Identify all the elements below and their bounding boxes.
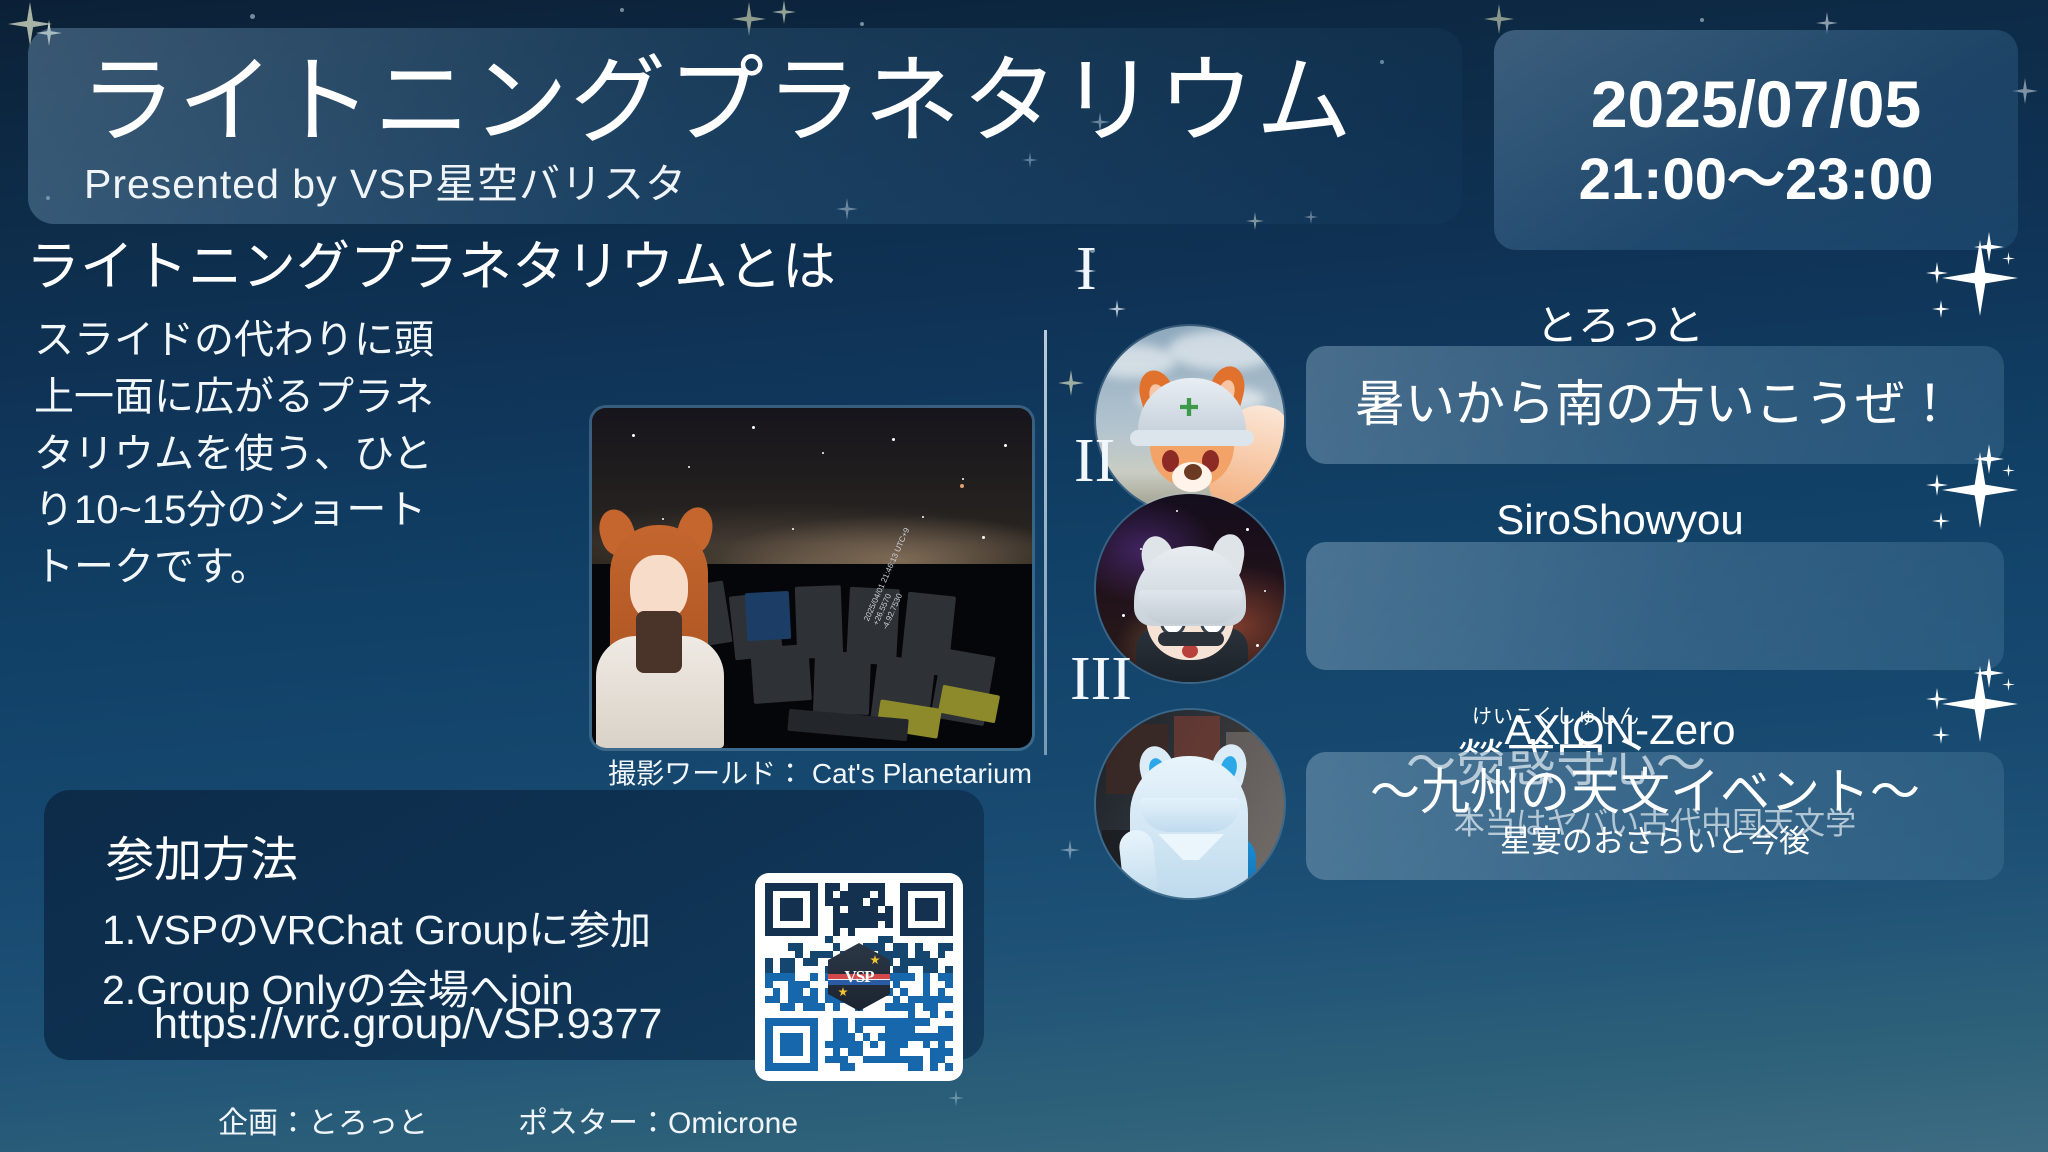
qr-module (923, 988, 931, 996)
qr-module (803, 1026, 811, 1034)
join-step-1: 1.VSPのVRChat Groupに参加 (102, 896, 651, 956)
qr-module (923, 1056, 931, 1064)
qr-module (945, 1041, 953, 1049)
qr-module (870, 921, 878, 929)
qr-module (833, 921, 841, 929)
qr-module (900, 958, 908, 966)
qr-module (848, 1056, 856, 1064)
qr-module (780, 1056, 788, 1064)
qr-module (930, 1011, 938, 1019)
qr-code-icon[interactable]: VSP (755, 873, 963, 1081)
qr-module (833, 898, 841, 906)
header-panel: ライトニングプラネタリウム Presented by VSP星空バリスタ (28, 28, 1462, 224)
qr-module (945, 1033, 953, 1041)
qr-module (930, 921, 938, 929)
qr-module (863, 1041, 871, 1049)
qr-module (795, 891, 803, 899)
presented-by-label: Presented by VSP星空バリスタ (84, 164, 687, 205)
qr-module (765, 898, 773, 906)
event-time: 21:00〜23:00 (1579, 151, 1934, 209)
qr-module (878, 891, 886, 899)
qr-module (818, 1026, 826, 1034)
qr-module (945, 1026, 953, 1034)
qr-module (780, 883, 788, 891)
qr-module (945, 913, 953, 921)
qr-module (803, 1011, 811, 1019)
qr-module (780, 906, 788, 914)
qr-module (885, 1033, 893, 1041)
qr-module (795, 973, 803, 981)
qr-module (795, 958, 803, 966)
join-heading: 参加方法 (106, 820, 298, 890)
qr-module (765, 913, 773, 921)
qr-module (938, 958, 946, 966)
qr-module (855, 1048, 863, 1056)
qr-module (825, 1056, 833, 1064)
qr-module (803, 1041, 811, 1049)
qr-module (773, 981, 781, 989)
qr-module (848, 1033, 856, 1041)
qr-module (848, 1063, 856, 1071)
qr-module (938, 1033, 946, 1041)
qr-module (923, 921, 931, 929)
qr-module (780, 913, 788, 921)
qr-module (810, 906, 818, 914)
qr-module (788, 1041, 796, 1049)
qr-module (945, 891, 953, 899)
entry-number-1: I (1076, 238, 1097, 300)
photo-avatar-figure (592, 503, 736, 748)
qr-module (803, 981, 811, 989)
qr-module (773, 883, 781, 891)
qr-module (795, 913, 803, 921)
qr-module (878, 883, 886, 891)
qr-module (945, 928, 953, 936)
qr-module (773, 943, 781, 951)
qr-module (788, 943, 796, 951)
qr-module (818, 973, 826, 981)
qr-module (780, 973, 788, 981)
qr-module (915, 973, 923, 981)
qr-module (908, 1056, 916, 1064)
page-title: ライトニングプラネタリウム (80, 54, 1354, 150)
qr-module (803, 1003, 811, 1011)
qr-module (795, 1033, 803, 1041)
qr-module (848, 1026, 856, 1034)
qr-module (878, 1048, 886, 1056)
qr-module (840, 1026, 848, 1034)
qr-module (780, 966, 788, 974)
qr-module (893, 981, 901, 989)
qr-module (923, 1033, 931, 1041)
qr-module (930, 1063, 938, 1071)
qr-module (938, 1003, 946, 1011)
qr-module (833, 1056, 841, 1064)
qr-module (765, 966, 773, 974)
qr-module (900, 936, 908, 944)
qr-module (930, 936, 938, 944)
qr-module (848, 1011, 856, 1019)
qr-module (818, 906, 826, 914)
qr-module (945, 1063, 953, 1071)
qr-module (908, 891, 916, 899)
qr-module (885, 883, 893, 891)
qr-module (863, 921, 871, 929)
qr-module (810, 1026, 818, 1034)
world-screenshot: E 2025/04/01 21:46:13 UTC+9+26.5570-4.92… (592, 408, 1032, 748)
qr-module (765, 996, 773, 1004)
qr-module (788, 996, 796, 1004)
qr-module (893, 1041, 901, 1049)
qr-module (795, 1018, 803, 1026)
qr-module (915, 958, 923, 966)
qr-module (788, 1018, 796, 1026)
qr-module (840, 1033, 848, 1041)
qr-module (840, 1048, 848, 1056)
qr-module (908, 966, 916, 974)
qr-module (878, 921, 886, 929)
sparkle-star-icon (1942, 666, 2018, 742)
qr-module (863, 1018, 871, 1026)
qr-module (765, 891, 773, 899)
qr-module (885, 1041, 893, 1049)
qr-module (923, 1026, 931, 1034)
qr-module (818, 1048, 826, 1056)
qr-module (788, 973, 796, 981)
qr-module (855, 1018, 863, 1026)
qr-module (855, 1063, 863, 1071)
qr-module (938, 1026, 946, 1034)
qr-module (893, 936, 901, 944)
qr-module (893, 1018, 901, 1026)
qr-module (825, 951, 833, 959)
qr-module (923, 1018, 931, 1026)
qr-module (938, 1048, 946, 1056)
qr-module (915, 936, 923, 944)
qr-module (893, 898, 901, 906)
qr-module (810, 1041, 818, 1049)
qr-module (915, 1056, 923, 1064)
qr-module (915, 1003, 923, 1011)
qr-module (863, 1063, 871, 1071)
qr-module (780, 981, 788, 989)
qr-module (870, 906, 878, 914)
qr-module (765, 1018, 773, 1026)
qr-module (795, 1048, 803, 1056)
qr-module (818, 898, 826, 906)
qr-module (780, 1033, 788, 1041)
qr-module (848, 883, 856, 891)
qr-module (788, 898, 796, 906)
qr-module (773, 958, 781, 966)
qr-module (923, 891, 931, 899)
qr-module (810, 913, 818, 921)
qr-module (870, 1026, 878, 1034)
qr-module (945, 996, 953, 1004)
qr-module (908, 1041, 916, 1049)
qr-module (893, 943, 901, 951)
qr-module (825, 906, 833, 914)
sparkle-star-icon (1942, 240, 2018, 316)
talk-subtitle-3: 星宴のおさらいと今後 (1306, 816, 2004, 861)
qr-module (908, 921, 916, 929)
qr-module (855, 883, 863, 891)
qr-module (915, 988, 923, 996)
qr-module (780, 1041, 788, 1049)
qr-module (810, 921, 818, 929)
avatar (1096, 710, 1284, 898)
qr-module (938, 906, 946, 914)
qr-module (825, 883, 833, 891)
qr-module (818, 951, 826, 959)
qr-module (923, 951, 931, 959)
qr-module (915, 913, 923, 921)
qr-module (945, 898, 953, 906)
qr-module (773, 988, 781, 996)
qr-module (878, 1041, 886, 1049)
qr-module (773, 1011, 781, 1019)
qr-module (945, 966, 953, 974)
qr-module (803, 996, 811, 1004)
qr-module (938, 921, 946, 929)
qr-module (773, 936, 781, 944)
qr-module (900, 1033, 908, 1041)
qr-module (923, 883, 931, 891)
qr-module (938, 891, 946, 899)
qr-module (863, 936, 871, 944)
qr-module (810, 966, 818, 974)
qr-module (938, 1063, 946, 1071)
qr-module (900, 973, 908, 981)
qr-module (938, 988, 946, 996)
qr-module (795, 966, 803, 974)
credit-poster: ポスター：Omicrone (518, 1098, 798, 1142)
qr-module (780, 1048, 788, 1056)
qr-module (848, 928, 856, 936)
qr-module (810, 1011, 818, 1019)
qr-module (818, 981, 826, 989)
qr-module (908, 898, 916, 906)
qr-module (945, 1048, 953, 1056)
qr-module (788, 1048, 796, 1056)
qr-module (818, 1033, 826, 1041)
qr-module (818, 921, 826, 929)
qr-module (885, 921, 893, 929)
qr-module (915, 891, 923, 899)
qr-module (863, 883, 871, 891)
qr-module (795, 1041, 803, 1049)
qr-module (765, 936, 773, 944)
event-date: 2025/07/05 (1591, 71, 1921, 137)
qr-module (788, 1033, 796, 1041)
qr-module (773, 906, 781, 914)
qr-module (870, 913, 878, 921)
qr-module (773, 891, 781, 899)
qr-module (803, 913, 811, 921)
qr-module (818, 1056, 826, 1064)
group-url-link[interactable]: https://vrc.group/VSP.9377 (154, 1000, 662, 1049)
section-divider (1044, 330, 1047, 755)
qr-module (803, 921, 811, 929)
qr-module (810, 891, 818, 899)
qr-module (810, 943, 818, 951)
qr-module (863, 1026, 871, 1034)
qr-module (810, 936, 818, 944)
qr-module (930, 981, 938, 989)
qr-module (893, 913, 901, 921)
qr-module (825, 891, 833, 899)
qr-module (788, 928, 796, 936)
qr-module (780, 988, 788, 996)
qr-module (900, 1063, 908, 1071)
qr-module (893, 958, 901, 966)
qr-module (900, 906, 908, 914)
talk-title-1: 暑いから南の方いこうぜ！ (1306, 364, 2004, 436)
qr-module (810, 973, 818, 981)
qr-module (893, 1063, 901, 1071)
qr-module (878, 1018, 886, 1026)
qr-module (810, 996, 818, 1004)
qr-module (818, 996, 826, 1004)
qr-module (930, 1041, 938, 1049)
qr-module (818, 936, 826, 944)
qr-module (833, 1018, 841, 1026)
qr-module (930, 943, 938, 951)
qr-module (938, 966, 946, 974)
qr-module (788, 883, 796, 891)
qr-module (795, 1011, 803, 1019)
entry-name-2: SiroShowyou (1300, 496, 1940, 544)
qr-module (818, 988, 826, 996)
qr-module (825, 943, 833, 951)
qr-module (803, 906, 811, 914)
qr-module (915, 898, 923, 906)
qr-module (893, 1056, 901, 1064)
qr-module (893, 1048, 901, 1056)
qr-module (878, 906, 886, 914)
qr-module (765, 921, 773, 929)
qr-module (855, 1026, 863, 1034)
qr-module (803, 928, 811, 936)
qr-module (945, 921, 953, 929)
qr-module (900, 1041, 908, 1049)
qr-module (915, 1011, 923, 1019)
qr-module (818, 1041, 826, 1049)
qr-module (765, 1041, 773, 1049)
qr-module (788, 1026, 796, 1034)
qr-module (833, 936, 841, 944)
qr-module (923, 973, 931, 981)
qr-module (893, 973, 901, 981)
qr-module (765, 928, 773, 936)
qr-module (780, 921, 788, 929)
logo-star-icon (870, 955, 880, 965)
qr-module (908, 996, 916, 1004)
qr-module (863, 928, 871, 936)
qr-module (923, 943, 931, 951)
qr-module (878, 1026, 886, 1034)
qr-module (945, 951, 953, 959)
avatar (1096, 326, 1284, 514)
qr-module (765, 958, 773, 966)
qr-module (855, 913, 863, 921)
qr-module (773, 966, 781, 974)
qr-module (885, 1018, 893, 1026)
qr-module (803, 1063, 811, 1071)
qr-module (788, 1056, 796, 1064)
qr-module (788, 1003, 796, 1011)
qr-module (863, 891, 871, 899)
qr-module (893, 928, 901, 936)
qr-module (930, 898, 938, 906)
qr-module (893, 951, 901, 959)
qr-module (773, 1033, 781, 1041)
qr-module (773, 951, 781, 959)
qr-module (893, 1003, 901, 1011)
qr-module (848, 921, 856, 929)
qr-module (803, 1048, 811, 1056)
qr-module (908, 981, 916, 989)
qr-module (810, 1063, 818, 1071)
qr-module (930, 883, 938, 891)
qr-module (773, 1018, 781, 1026)
qr-module (893, 891, 901, 899)
qr-module (878, 1033, 886, 1041)
qr-module (878, 1011, 886, 1019)
qr-module (765, 883, 773, 891)
qr-module (870, 1003, 878, 1011)
qr-module (938, 951, 946, 959)
qr-module (930, 891, 938, 899)
qr-module (780, 1003, 788, 1011)
qr-module (893, 1011, 901, 1019)
qr-module (833, 1063, 841, 1071)
qr-module (863, 1011, 871, 1019)
qr-module (900, 928, 908, 936)
qr-module (893, 988, 901, 996)
qr-module (915, 906, 923, 914)
qr-module (900, 1056, 908, 1064)
qr-module (885, 943, 893, 951)
qr-module (870, 1063, 878, 1071)
qr-module (863, 906, 871, 914)
qr-module (825, 936, 833, 944)
qr-module (930, 951, 938, 959)
sparkle-star-icon (2002, 678, 2015, 691)
qr-module (765, 981, 773, 989)
qr-module (788, 1063, 796, 1071)
qr-module (795, 988, 803, 996)
qr-module (795, 928, 803, 936)
qr-module (765, 906, 773, 914)
qr-module (840, 1018, 848, 1026)
qr-module (885, 936, 893, 944)
qr-module (908, 1011, 916, 1019)
qr-module (795, 906, 803, 914)
qr-module (825, 1041, 833, 1049)
qr-module (840, 1056, 848, 1064)
qr-module (915, 951, 923, 959)
qr-module (788, 988, 796, 996)
qr-module (818, 958, 826, 966)
qr-module (908, 988, 916, 996)
qr-module (885, 1003, 893, 1011)
qr-module (773, 1026, 781, 1034)
qr-module (923, 906, 931, 914)
qr-module (938, 1011, 946, 1019)
qr-module (908, 883, 916, 891)
qr-module (915, 996, 923, 1004)
